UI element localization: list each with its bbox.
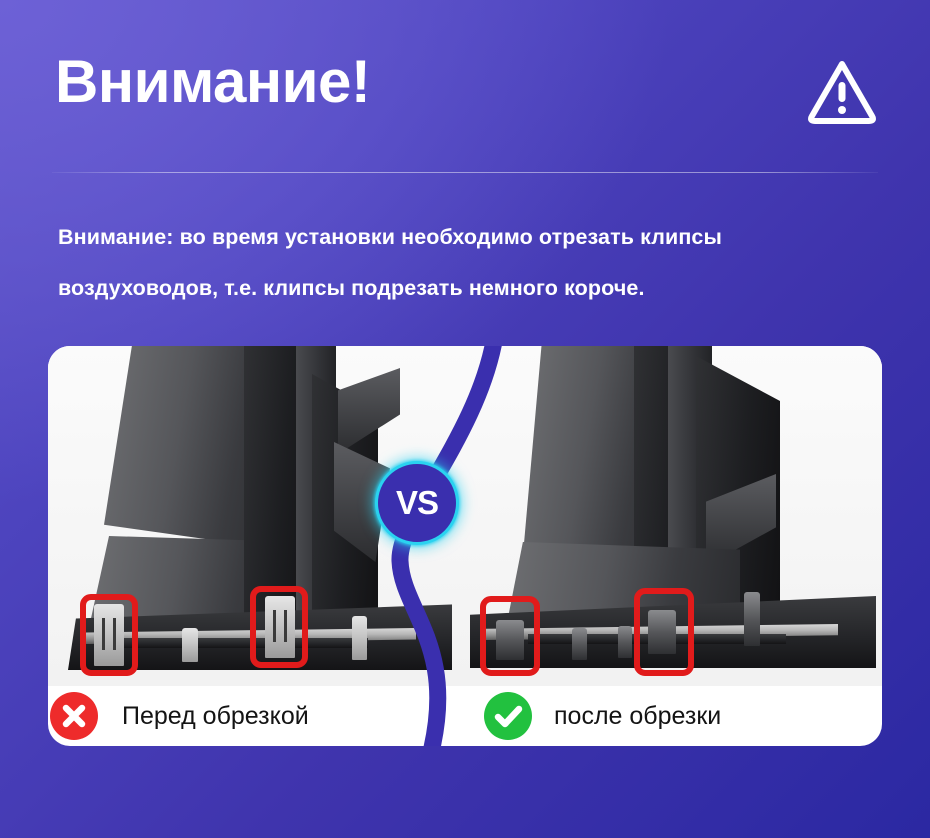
poster-header: Внимание!	[0, 0, 930, 168]
warning-triangle-icon	[806, 58, 878, 124]
highlight-box-after-right	[634, 588, 694, 676]
photo-after-trimming	[452, 346, 882, 686]
clip-far-right-small	[352, 616, 367, 660]
check-circle-icon	[484, 692, 532, 740]
page-title: Внимание!	[55, 52, 370, 112]
cross-circle-icon	[50, 692, 98, 740]
warning-paragraph: Внимание: во время установки необходимо …	[58, 212, 888, 314]
clip-center-small	[182, 628, 198, 662]
highlight-box-after-left	[480, 596, 540, 676]
clip-mid-small-2	[618, 626, 632, 658]
highlight-box-before-right	[250, 586, 308, 668]
highlight-box-before-left	[80, 594, 138, 676]
duct-base-slot	[118, 638, 368, 648]
caption-before: Перед обрезкой	[48, 686, 466, 746]
comparison-card: Перед обрезкой после обрезки	[48, 346, 882, 746]
caption-before-label: Перед обрезкой	[122, 702, 309, 731]
warning-poster: Внимание! Внимание: во время установки н…	[0, 0, 930, 838]
clip-center-small-2	[572, 628, 587, 660]
vs-badge: VS	[375, 461, 459, 545]
header-divider	[52, 172, 878, 173]
clip-far-right-small-2	[744, 592, 760, 646]
caption-after: после обрезки	[464, 686, 882, 746]
caption-after-label: после обрезки	[554, 702, 721, 731]
